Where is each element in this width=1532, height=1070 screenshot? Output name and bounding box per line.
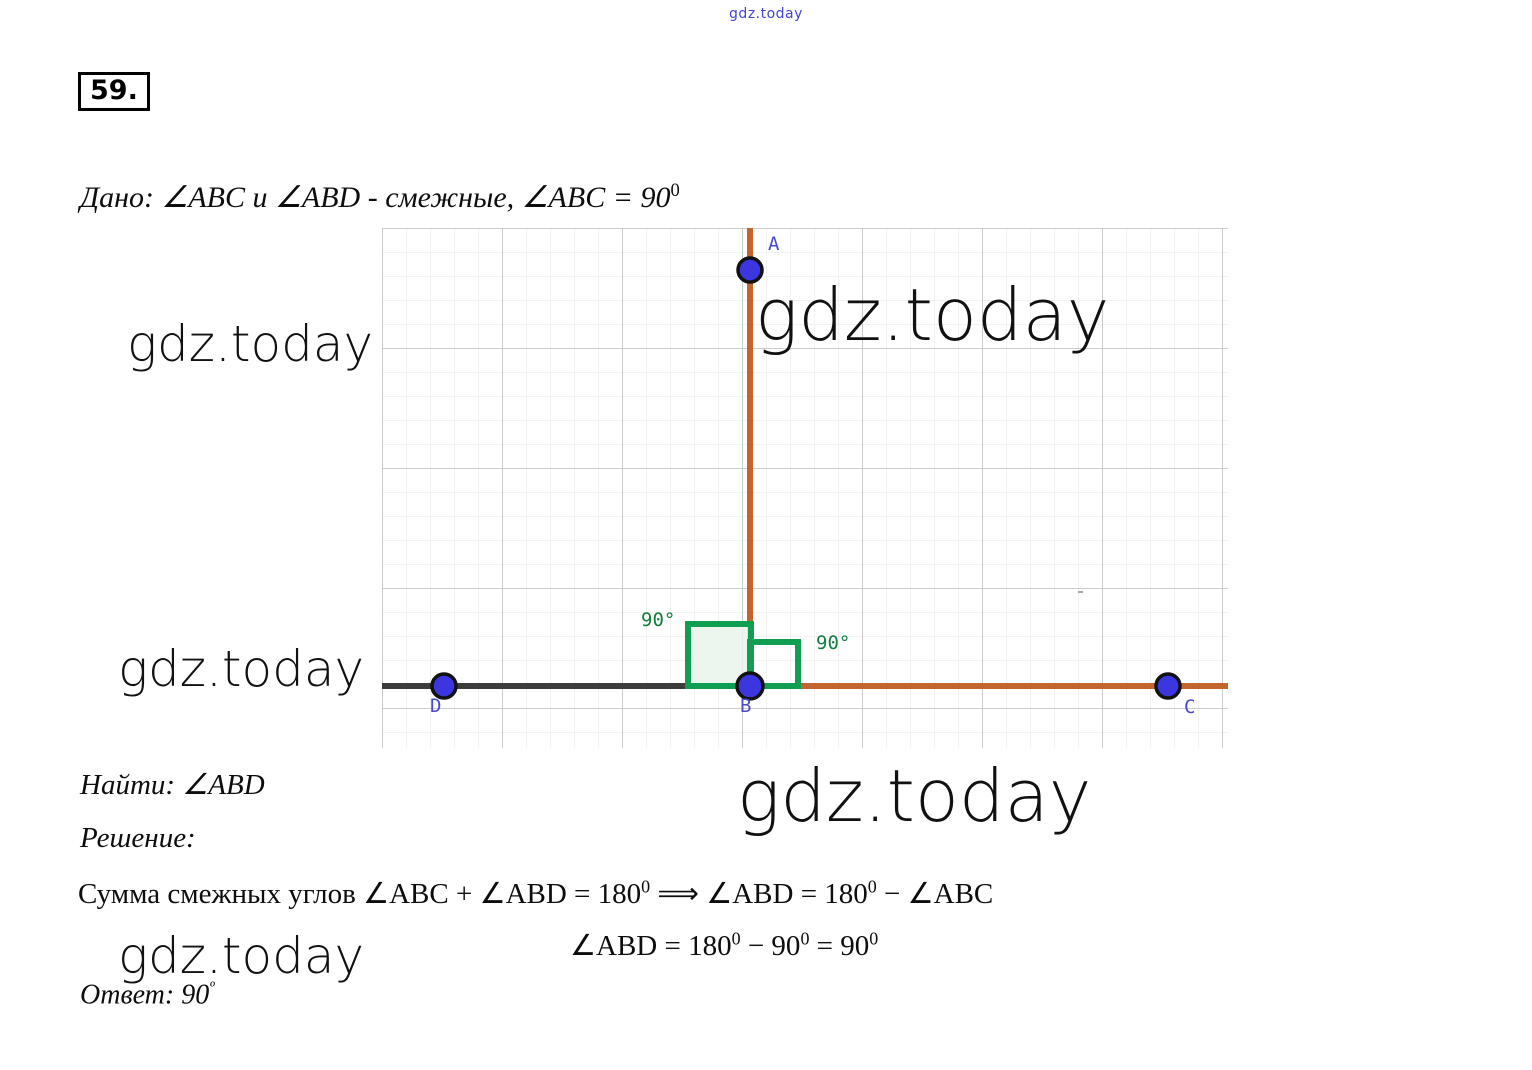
watermark-left-upper: gdz.today [127,315,373,373]
given-degree-sup: 0 [670,180,679,201]
solution-line-2-c: = 90 [809,930,869,962]
solution-line-2-a: ∠ABD = 180 [570,930,732,962]
geometry-canvas: gdz.today [382,228,1228,748]
angle-label-left: 90° [641,609,675,631]
answer-degree-sup: º [209,978,214,997]
watermark-left-middle: gdz.today [118,640,364,698]
solution-line-2-b: − 90 [741,930,801,962]
point-label-C: C [1184,696,1195,718]
watermark-bottom: gdz.today [737,754,1091,838]
point-label-A: A [768,233,779,255]
problem-number: 59. [78,72,150,111]
answer-text: Ответ: 90 [80,979,209,1010]
answer-line: Ответ: 90º [80,978,215,1011]
point-C[interactable] [1156,674,1180,698]
solution-line-1-a: Сумма смежных углов ∠ABC + ∠ABD = 180 [78,878,641,910]
watermark-top: gdz.today [0,6,1532,22]
solution-line-1-sup-1: 0 [641,876,650,896]
given-text: Дано: ∠ABC и ∠ABD - смежные, ∠ABC = 90 [80,181,670,214]
solution-line-2: ∠ABD = 1800 − 900 = 900 [570,928,878,963]
solution-line-1-c: − ∠ABC [877,878,993,910]
given-line: Дано: ∠ABC и ∠ABD - смежные, ∠ABC = 900 [80,180,680,215]
point-A[interactable] [738,258,762,282]
solution-line-1-sup-2: 0 [868,876,877,896]
solution-line-2-sup-1: 0 [732,928,741,948]
point-label-B: B [740,695,751,717]
geometry-figure: gdz.today A B C D 90° 90° [382,228,1228,748]
point-label-D: D [430,695,441,717]
solution-label: Решение: [80,822,196,855]
solution-line-1: Сумма смежных углов ∠ABC + ∠ABD = 1800 ⟹… [78,876,993,911]
angle-label-right: 90° [816,632,850,654]
solution-line-2-sup-3: 0 [869,928,878,948]
solution-page: gdz.today 59. Дано: ∠ABC и ∠ABD - смежны… [0,0,1532,1070]
watermark-center-svg: gdz.today [755,273,1109,357]
find-line: Найти: ∠ABD [80,767,265,802]
watermark-left-lower: gdz.today [118,927,364,985]
solution-line-1-b: ⟹ ∠ABD = 180 [650,878,868,910]
